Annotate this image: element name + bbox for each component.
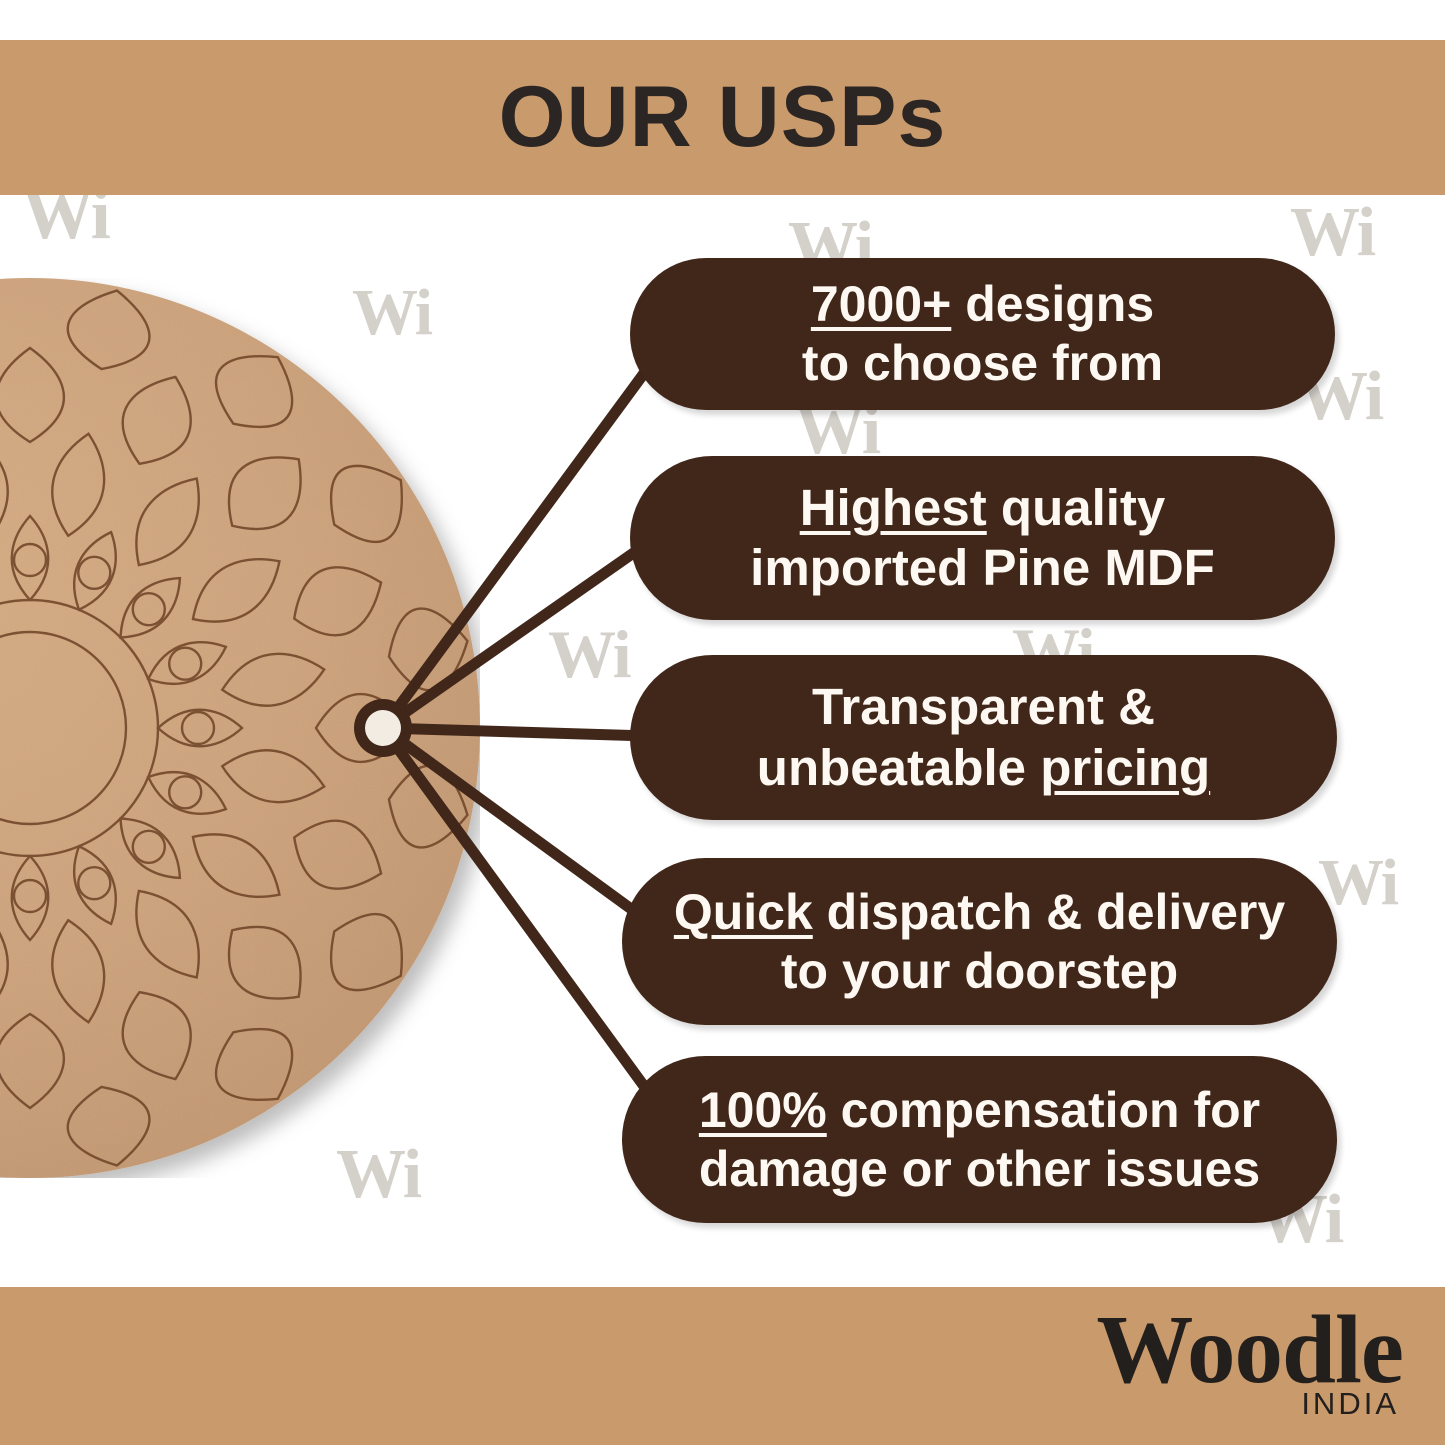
- footer-band: Woodle INDIA: [0, 1287, 1445, 1445]
- usp-card-dispatch-delivery[interactable]: Quick dispatch & delivery to your doorst…: [622, 858, 1337, 1025]
- usp-text: quality: [987, 479, 1166, 536]
- usp-line-1: Highest quality: [800, 478, 1166, 538]
- usp-line-1: Transparent &: [812, 677, 1155, 737]
- usp-highlight: pricing: [1040, 739, 1210, 796]
- brand-logo-word: Woodle: [1096, 1301, 1403, 1398]
- brand-logo[interactable]: Woodle INDIA: [1096, 1301, 1403, 1419]
- usp-highlight: Quick: [674, 884, 813, 940]
- usp-text: unbeatable: [757, 739, 1040, 796]
- usp-card-pricing[interactable]: Transparent & unbeatable pricing: [630, 655, 1337, 820]
- usp-text: dispatch & delivery: [813, 884, 1285, 940]
- usp-line-1: 7000+ designs: [811, 275, 1154, 334]
- usp-text: designs: [951, 276, 1154, 332]
- usp-highlight: 7000+: [811, 276, 951, 332]
- usp-line-2: to choose from: [802, 334, 1163, 393]
- usp-card-material-quality[interactable]: Highest quality imported Pine MDF: [630, 456, 1335, 620]
- page-title: OUR USPs: [499, 68, 947, 167]
- usp-line-2: imported Pine MDF: [750, 538, 1215, 598]
- usp-infographic: Wi Wi Wi Wi Wi Wi Wi Wi Wi Wi Wi Wi: [0, 0, 1445, 1445]
- usp-line-2: to your doorstep: [781, 942, 1178, 1001]
- usp-list: 7000+ designs to choose from Highest qua…: [0, 0, 1445, 1445]
- usp-highlight: 100%: [699, 1082, 827, 1138]
- usp-line-2: unbeatable pricing: [757, 738, 1210, 798]
- usp-line-1: 100% compensation for: [699, 1081, 1260, 1140]
- usp-card-designs-count[interactable]: 7000+ designs to choose from: [630, 258, 1335, 410]
- usp-text: compensation for: [827, 1082, 1260, 1138]
- usp-line-1: Quick dispatch & delivery: [674, 883, 1285, 942]
- header-band: OUR USPs: [0, 40, 1445, 195]
- usp-line-2: damage or other issues: [699, 1140, 1260, 1199]
- usp-highlight: Highest: [800, 479, 987, 536]
- usp-card-compensation[interactable]: 100% compensation for damage or other is…: [622, 1056, 1337, 1223]
